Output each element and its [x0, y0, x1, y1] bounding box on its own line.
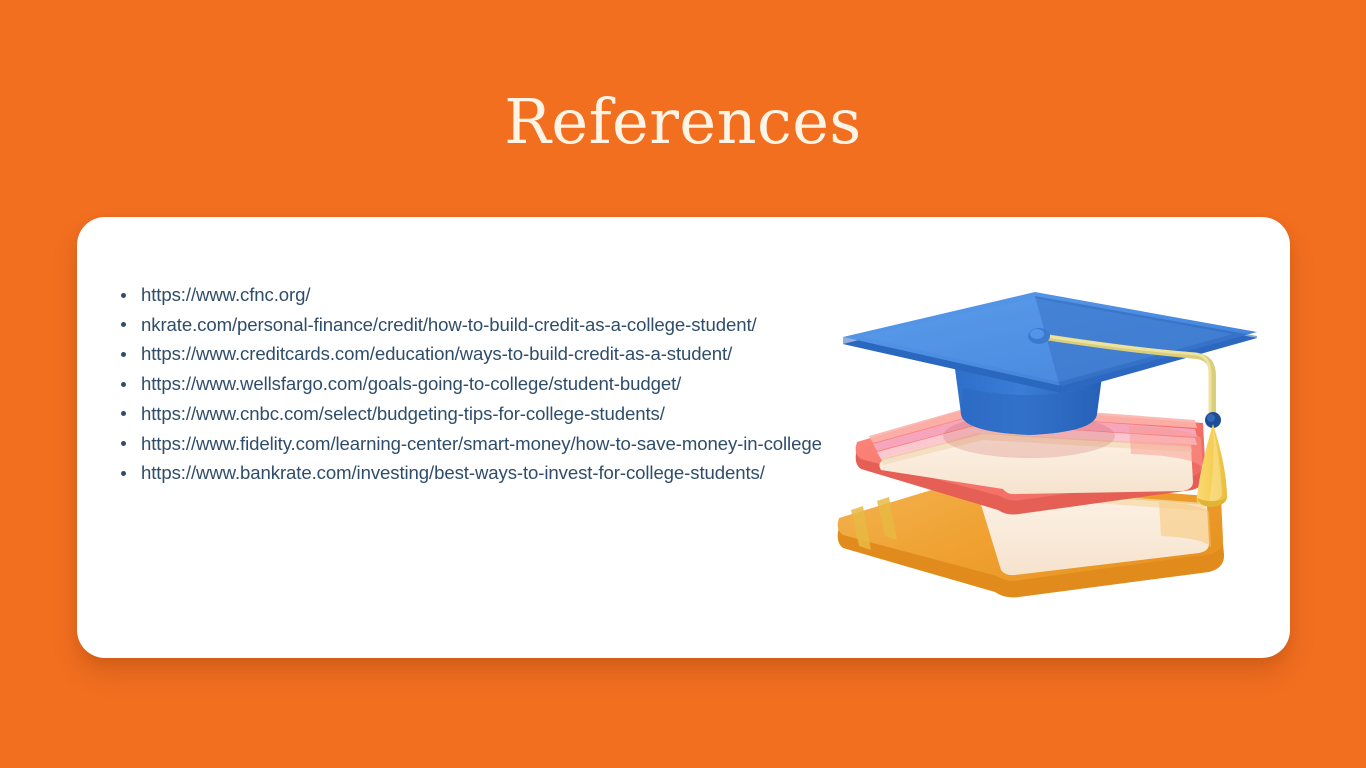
bottom-book: [838, 478, 1224, 597]
list-item[interactable]: https://www.cfnc.org/: [113, 280, 853, 310]
list-item[interactable]: https://www.wellsfargo.com/goals-going-t…: [113, 369, 853, 399]
mortarboard: [843, 292, 1257, 393]
list-item[interactable]: https://www.bankrate.com/investing/best-…: [113, 458, 853, 488]
list-item[interactable]: https://www.cnbc.com/select/budgeting-ti…: [113, 399, 853, 429]
list-item[interactable]: https://www.creditcards.com/education/wa…: [113, 339, 853, 369]
list-item[interactable]: nkrate.com/personal-finance/credit/how-t…: [113, 310, 853, 340]
list-item[interactable]: https://www.fidelity.com/learning-center…: [113, 429, 853, 459]
references-card: https://www.cfnc.org/ nkrate.com/persona…: [77, 217, 1290, 658]
graduation-cap-on-books-icon: [829, 292, 1269, 612]
tassel: [1028, 328, 1227, 507]
reference-list: https://www.cfnc.org/ nkrate.com/persona…: [113, 280, 853, 488]
top-book: [856, 404, 1205, 515]
cap-crown: [943, 338, 1115, 458]
slide-root: References https://www.cfnc.org/ nkrate.…: [0, 0, 1366, 768]
page-title: References: [0, 88, 1366, 156]
